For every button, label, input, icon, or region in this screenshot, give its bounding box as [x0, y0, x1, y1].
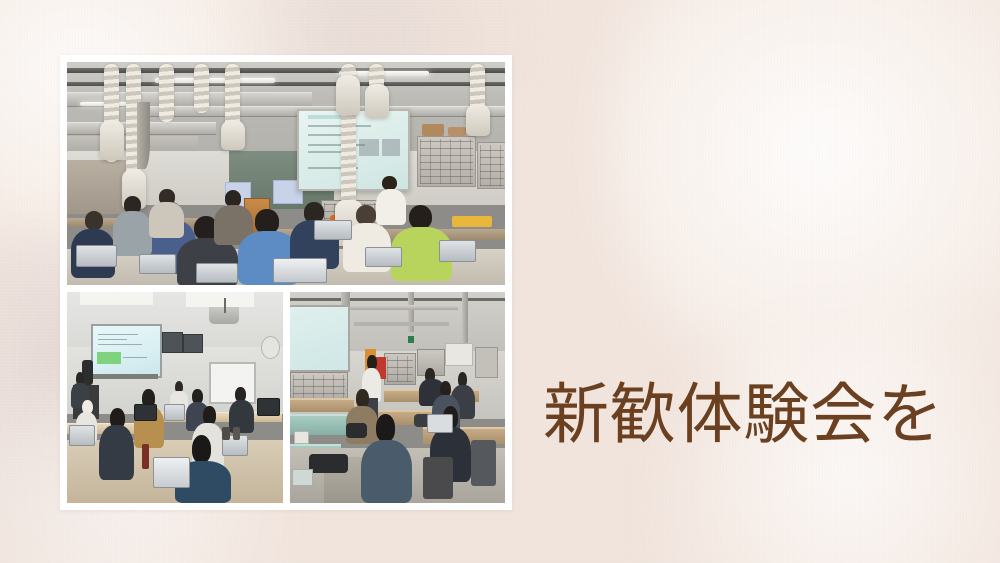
projector-screen-bottom-left-photo	[91, 324, 162, 379]
photo-bottom-left-canvas	[67, 292, 283, 503]
page-title: 新歓体験会を 開催しました	[543, 200, 963, 563]
photo-bottom-left	[67, 292, 283, 503]
slide-root: 新歓体験会を 開催しました	[0, 0, 1000, 563]
photo-bottom-right	[290, 292, 506, 503]
photo-collage	[60, 55, 512, 510]
photo-top-canvas	[67, 62, 505, 285]
photo-bottom-right-canvas	[290, 292, 506, 503]
collage-bottom-row	[67, 292, 505, 503]
projector-screen-bottom-right-photo	[290, 305, 350, 372]
photo-top	[67, 62, 505, 285]
page-title-line-1: 新歓体験会を	[543, 372, 963, 458]
